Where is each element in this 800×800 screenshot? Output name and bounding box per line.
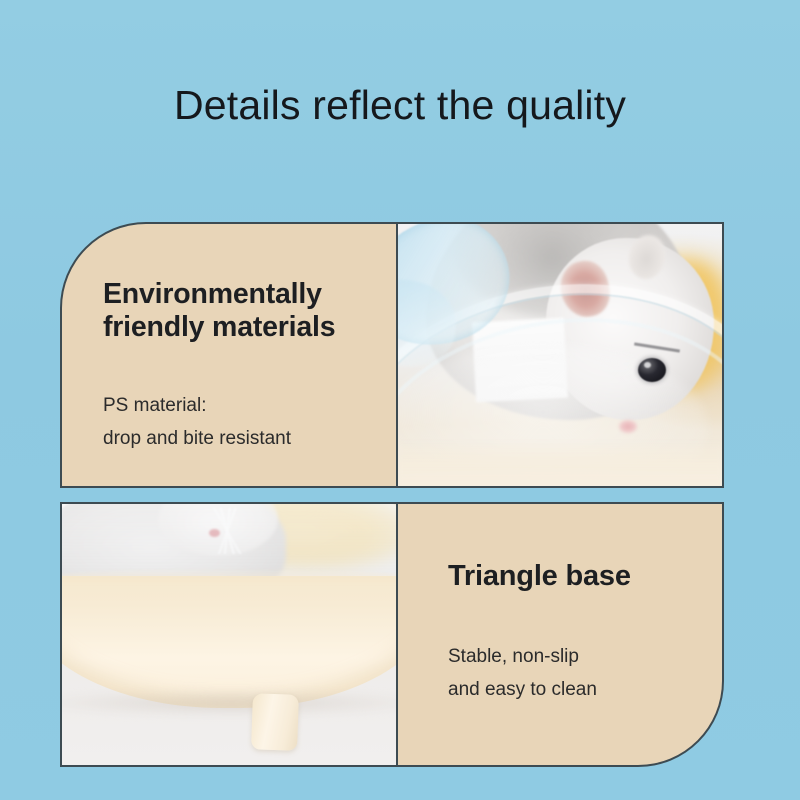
hamster-bowl-photo [398,224,722,486]
hamster-eye-glint [644,362,651,368]
bowl-base-photo [62,504,396,765]
panel-headline-line2: friendly materials [103,311,374,344]
panel-headline: Environmentally friendly materials [103,278,374,345]
bowl-drop-shadow [60,690,397,716]
panel-headline: Triangle base [448,560,700,594]
panel-subtext: Stable, non-slip and easy to clean [448,640,700,707]
feature-grid: Environmentally friendly materials PS ma… [60,222,724,767]
panel-subtext-line1: Stable, non-slip [448,646,579,667]
feature-panel-environmentally-friendly: Environmentally friendly materials PS ma… [60,222,397,488]
hamster-eye [638,358,666,382]
panel-headline-line1: Environmentally [103,278,322,310]
product-detail-poster: Details reflect the quality Environmenta… [0,0,800,800]
hamster-nose [619,420,637,433]
panel-subtext-line2: and easy to clean [448,673,700,706]
cream-bowl-body [60,576,397,708]
panel-text-block: Environmentally friendly materials PS ma… [62,224,396,486]
panel-text-block: Triangle base Stable, non-slip and easy … [398,504,722,765]
panel-headline-line1: Triangle base [448,560,631,592]
feature-photo-bowl-base [60,502,397,767]
feature-photo-hamster-in-bowl [397,222,724,488]
panel-subtext-line1: PS material: [103,395,206,416]
page-title: Details reflect the quality [0,82,800,129]
feature-panel-triangle-base: Triangle base Stable, non-slip and easy … [397,502,724,767]
page-title-text: Details reflect the quality [0,82,800,129]
panel-subtext-line2: drop and bite resistant [103,422,374,455]
panel-subtext: PS material: drop and bite resistant [103,389,374,456]
triangle-base-leg [251,693,299,751]
table-surface [398,440,722,488]
